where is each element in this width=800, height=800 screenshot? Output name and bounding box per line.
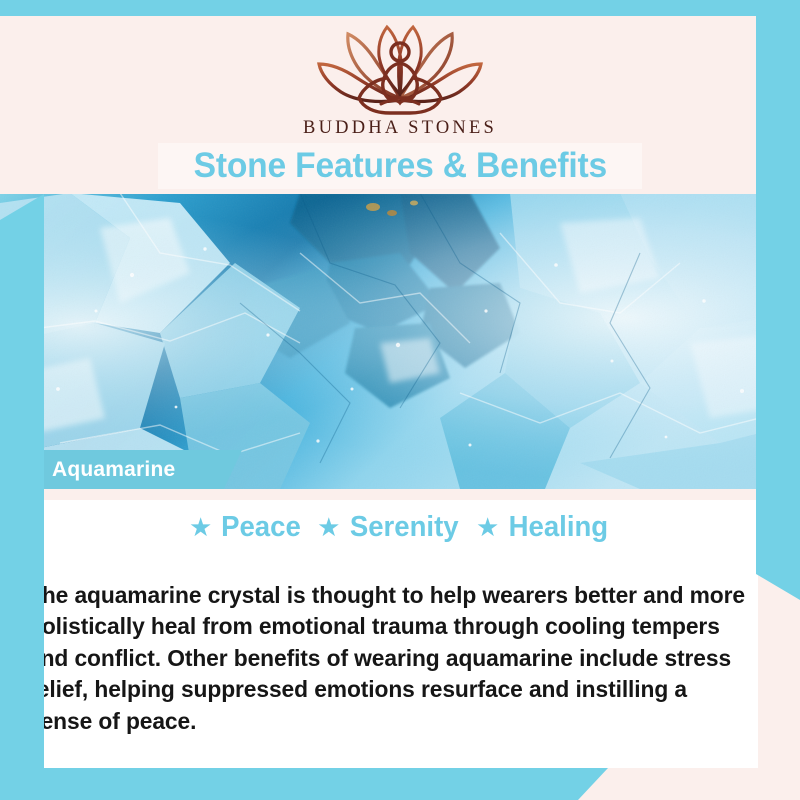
poster-header: BUDDHA STONES Stone Features & Benefits [0,0,800,194]
frame-bar-top [0,0,800,16]
star-icon: ★ [317,512,340,543]
lotus-meditation-figure-icon [311,20,489,116]
stone-name-label: Aquamarine [52,458,175,482]
star-icon: ★ [476,512,499,543]
keyword-row: ★Peace★Serenity★Healing [0,511,800,544]
keyword-peace: Peace [221,511,301,544]
brand-logo-block: BUDDHA STONES [0,20,800,139]
crystal-photo-art [0,193,800,489]
frame-bar-left [0,194,44,800]
brand-wordmark: BUDDHA STONES [0,118,800,139]
page-title: Stone Features & Benefits [193,146,606,186]
aquamarine-crystal-photo [0,193,800,489]
frame-bar-bottom [0,768,608,800]
keyword-serenity: Serenity [350,511,459,544]
frame-bar-right [756,0,800,600]
keyword-healing: Healing [509,511,609,544]
page-title-plate: Stone Features & Benefits [158,143,642,189]
stone-info-poster: BUDDHA STONES Stone Features & Benefits [0,0,800,800]
star-icon: ★ [189,512,212,543]
benefits-paragraph: The aquamarine crystal is thought to hel… [28,580,748,738]
